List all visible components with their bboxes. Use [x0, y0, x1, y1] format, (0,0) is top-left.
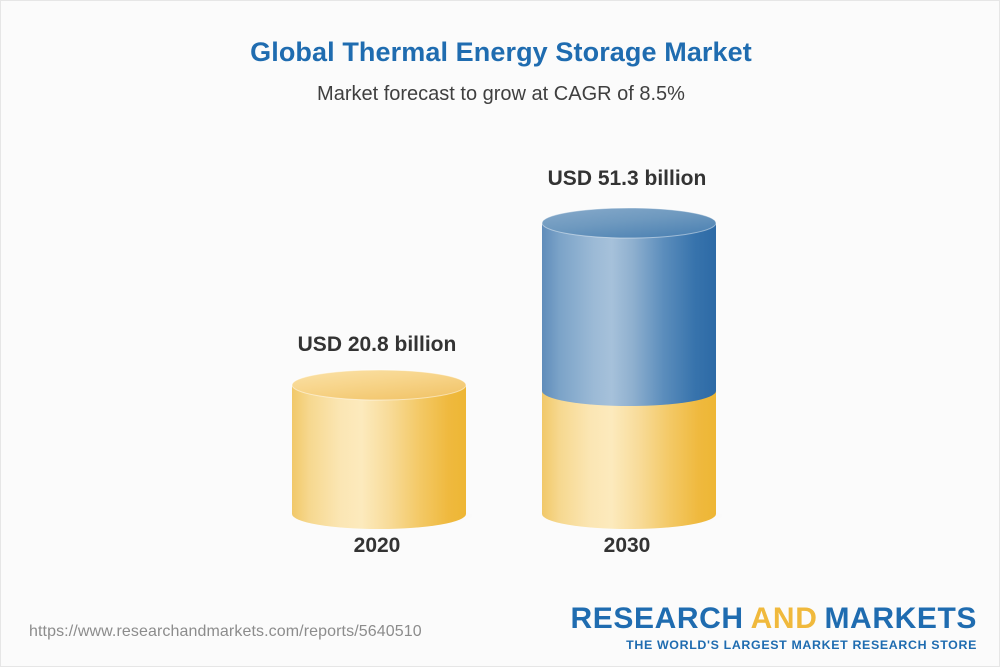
bar-segment-gold-2020 [292, 385, 466, 529]
report-url[interactable]: https://www.researchandmarkets.com/repor… [29, 623, 422, 641]
bar-cylinder-2020[interactable] [284, 361, 474, 529]
bar-segment-blue-2030 [542, 223, 716, 406]
logo-word-and: AND [744, 602, 825, 635]
logo-word-research: RESEARCH [571, 602, 744, 635]
value-label-2020: USD 20.8 billion [227, 333, 527, 357]
chart-canvas: Global Thermal Energy Storage Market Mar… [0, 0, 1000, 667]
bar-segment-gold-2030 [542, 391, 716, 529]
plot-area: USD 51.3 billion USD 20.8 billion [1, 1, 1000, 667]
logo-tagline: THE WORLD'S LARGEST MARKET RESEARCH STOR… [571, 637, 977, 653]
logo-wordmark: RESEARCHANDMARKETS [571, 603, 977, 635]
research-and-markets-logo[interactable]: RESEARCHANDMARKETS THE WORLD'S LARGEST M… [571, 603, 977, 653]
axis-label-2030: 2030 [477, 534, 777, 558]
value-label-2030: USD 51.3 billion [477, 167, 777, 191]
logo-word-markets: MARKETS [824, 602, 977, 635]
bar-cylinder-2030[interactable] [534, 199, 724, 529]
